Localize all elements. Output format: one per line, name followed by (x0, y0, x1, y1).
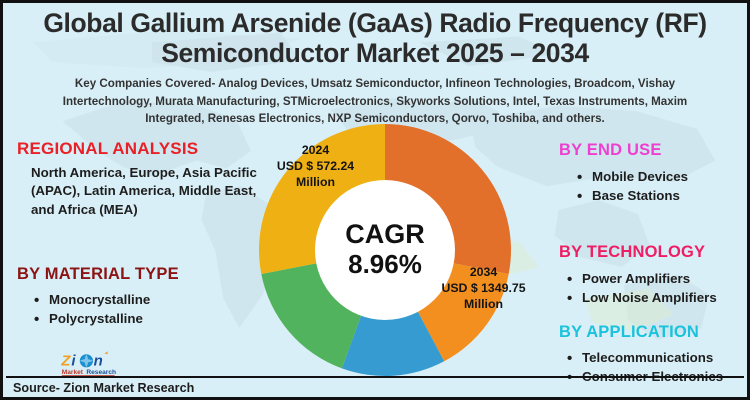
list-item: Low Noise Amplifiers (567, 289, 717, 308)
section-heading-material-type: BY MATERIAL TYPE (17, 265, 179, 284)
list-item: Power Amplifiers (567, 270, 717, 289)
callout-2034-year: 2034 (421, 265, 546, 281)
svg-text:i: i (71, 353, 76, 370)
callout-2034: 2034 USD $ 1349.75 Million (421, 265, 546, 313)
callout-2024-value: USD $ 572.24 (258, 159, 373, 175)
list-item: Base Stations (577, 187, 688, 206)
callout-2024: 2024 USD $ 572.24 Million (258, 143, 373, 191)
section-heading-application: BY APPLICATION (559, 323, 723, 342)
list-item: Monocrystalline (34, 291, 179, 310)
section-heading-regional-analysis: REGIONAL ANALYSIS (17, 139, 263, 159)
svg-text:n: n (94, 353, 103, 370)
svg-text:Z: Z (60, 353, 71, 370)
section-by-technology: BY TECHNOLOGY Power Amplifiers Low Noise… (559, 243, 717, 308)
section-heading-end-use: BY END USE (559, 141, 688, 160)
infographic-canvas: Global Gallium Arsenide (GaAs) Radio Fre… (0, 0, 750, 400)
list-item: Mobile Devices (577, 168, 688, 187)
svg-text:Market: Market (62, 369, 84, 376)
svg-text:Research: Research (86, 369, 116, 376)
material-type-list: Monocrystalline Polycrystalline (17, 291, 179, 329)
key-companies-subtitle: Key Companies Covered- Analog Devices, U… (49, 75, 701, 128)
end-use-list: Mobile Devices Base Stations (559, 168, 688, 206)
source-text: Source- Zion Market Research (13, 381, 194, 395)
footer-divider (6, 376, 744, 378)
technology-list: Power Amplifiers Low Noise Amplifiers (559, 270, 717, 308)
callout-2034-unit: Million (421, 297, 546, 313)
callout-2024-unit: Million (258, 175, 373, 191)
section-heading-technology: BY TECHNOLOGY (559, 243, 717, 262)
regional-analysis-body: North America, Europe, Asia Pacific (APA… (17, 164, 263, 219)
zion-market-research-logo: Z i n Market Research (60, 350, 132, 378)
list-item: Polycrystalline (34, 310, 179, 329)
section-regional-analysis: REGIONAL ANALYSIS North America, Europe,… (17, 139, 263, 219)
logo-svg: Z i n Market Research (60, 350, 132, 378)
section-by-material-type: BY MATERIAL TYPE Monocrystalline Polycry… (17, 265, 179, 329)
section-by-end-use: BY END USE Mobile Devices Base Stations (559, 141, 688, 206)
cagr-value: 8.96% (348, 250, 422, 280)
page-title: Global Gallium Arsenide (GaAs) Radio Fre… (3, 9, 747, 68)
cagr-label: CAGR (345, 220, 425, 248)
callout-2024-year: 2024 (258, 143, 373, 159)
application-list: Telecommunications Consumer Electronics (559, 349, 723, 387)
list-item: Telecommunications (567, 349, 723, 368)
callout-2034-value: USD $ 1349.75 (421, 281, 546, 297)
